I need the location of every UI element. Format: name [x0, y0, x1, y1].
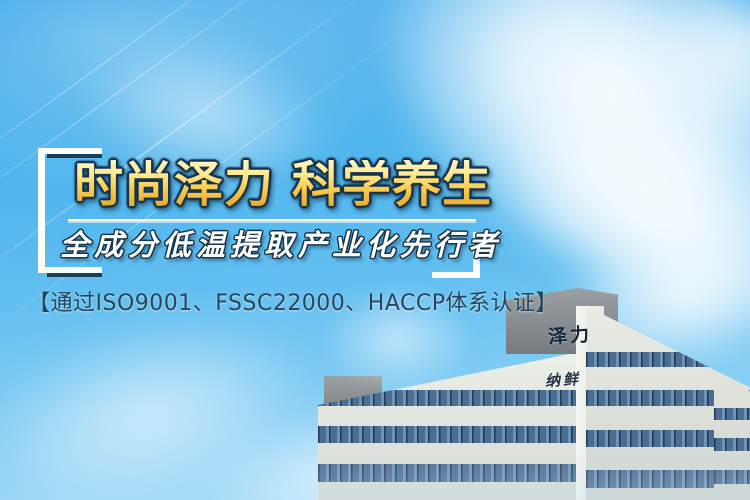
hero-banner: 泽力 纳鲜 时尚泽力 科学养生 全成分低温提取产业化先行者 【通过ISO9001… [0, 0, 750, 500]
page-subtitle: 全成分低温提取产业化先行者 [60, 231, 502, 260]
window-ribbon [714, 438, 750, 451]
page-title: 时尚泽力 科学养生 [74, 160, 492, 209]
window-ribbon [586, 352, 750, 367]
building-signage-secondary: 纳鲜 [544, 368, 581, 391]
window-ribbon [714, 470, 750, 484]
certification-text: 【通过ISO9001、FSSC22000、HACCP体系认证】 [28, 293, 558, 315]
building-far-wing [714, 372, 750, 500]
office-building [318, 284, 750, 500]
building-signage-primary: 泽力 [547, 319, 593, 349]
window-ribbon [318, 426, 618, 443]
title-divider [68, 219, 476, 223]
window-ribbon [318, 464, 618, 482]
window-ribbon [714, 408, 750, 420]
